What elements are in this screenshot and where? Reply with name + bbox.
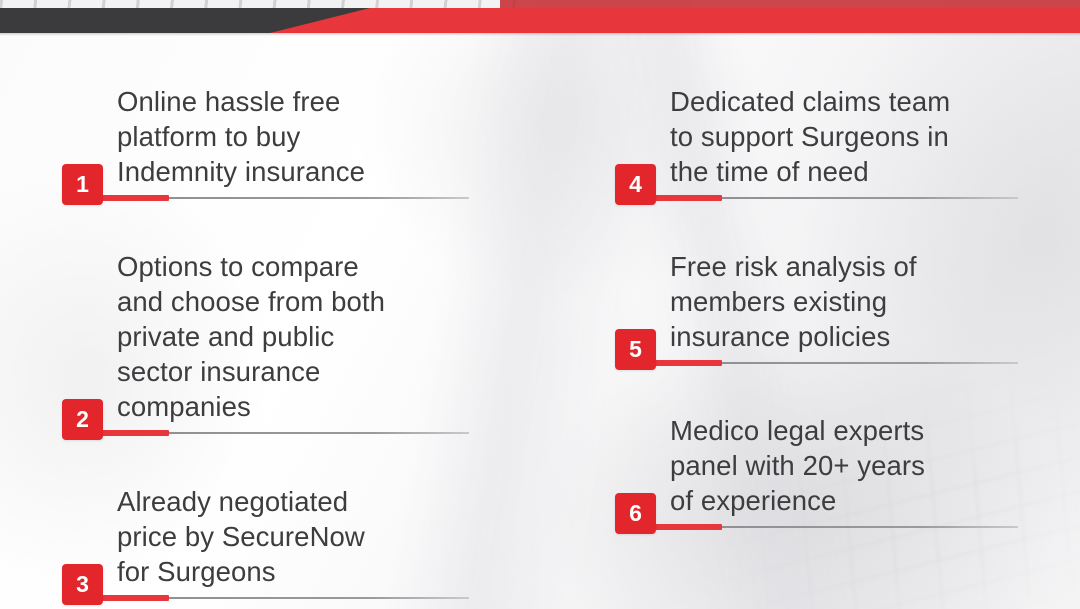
benefit-item-4-badge[interactable]: 4 [615,164,656,205]
benefit-item-5[interactable]: Free risk analysis of members existing i… [615,249,1080,370]
benefit-item-4[interactable]: Dedicated claims team to support Surgeon… [615,84,1080,205]
benefits-column-right: Dedicated claims team to support Surgeon… [615,0,1080,609]
benefit-item-2-text: Options to compare and choose from both … [62,249,532,424]
benefit-item-6-badge[interactable]: 6 [615,493,656,534]
benefits-column-left: Online hassle free platform to buy Indem… [62,0,532,609]
benefit-item-5-rule-gray [670,362,1018,364]
benefit-item-3-text: Already negotiated price by SecureNow fo… [62,484,532,589]
benefit-item-2-rule: 2 [62,426,532,440]
benefit-item-3-badge[interactable]: 3 [62,564,103,605]
benefit-item-3-rule-gray [117,597,469,599]
benefit-item-4-rule-gray [670,197,1018,199]
benefit-item-1-badge[interactable]: 1 [62,164,103,205]
benefit-item-4-text: Dedicated claims team to support Surgeon… [615,84,1080,189]
benefit-item-1[interactable]: Online hassle free platform to buy Indem… [62,84,532,205]
benefit-item-6-text: Medico legal experts panel with 20+ year… [615,413,1080,518]
benefit-item-6-rule: 6 [615,520,1080,534]
benefit-item-6-rule-gray [670,526,1018,528]
benefit-item-6[interactable]: Medico legal experts panel with 20+ year… [615,413,1080,534]
benefit-item-3-rule: 3 [62,591,532,605]
benefit-item-5-rule: 5 [615,356,1080,370]
benefit-item-1-rule-gray [117,197,469,199]
benefit-item-1-rule: 1 [62,191,532,205]
benefit-item-1-text: Online hassle free platform to buy Indem… [62,84,532,189]
benefit-item-2-badge[interactable]: 2 [62,399,103,440]
benefits-slide: Online hassle free platform to buy Indem… [0,0,1080,609]
benefit-item-2[interactable]: Options to compare and choose from both … [62,249,532,440]
benefit-item-4-rule: 4 [615,191,1080,205]
benefit-item-5-badge[interactable]: 5 [615,329,656,370]
benefit-item-3[interactable]: Already negotiated price by SecureNow fo… [62,484,532,605]
benefits-columns: Online hassle free platform to buy Indem… [0,0,1080,609]
benefit-item-2-rule-gray [117,432,469,434]
benefit-item-5-text: Free risk analysis of members existing i… [615,249,1080,354]
